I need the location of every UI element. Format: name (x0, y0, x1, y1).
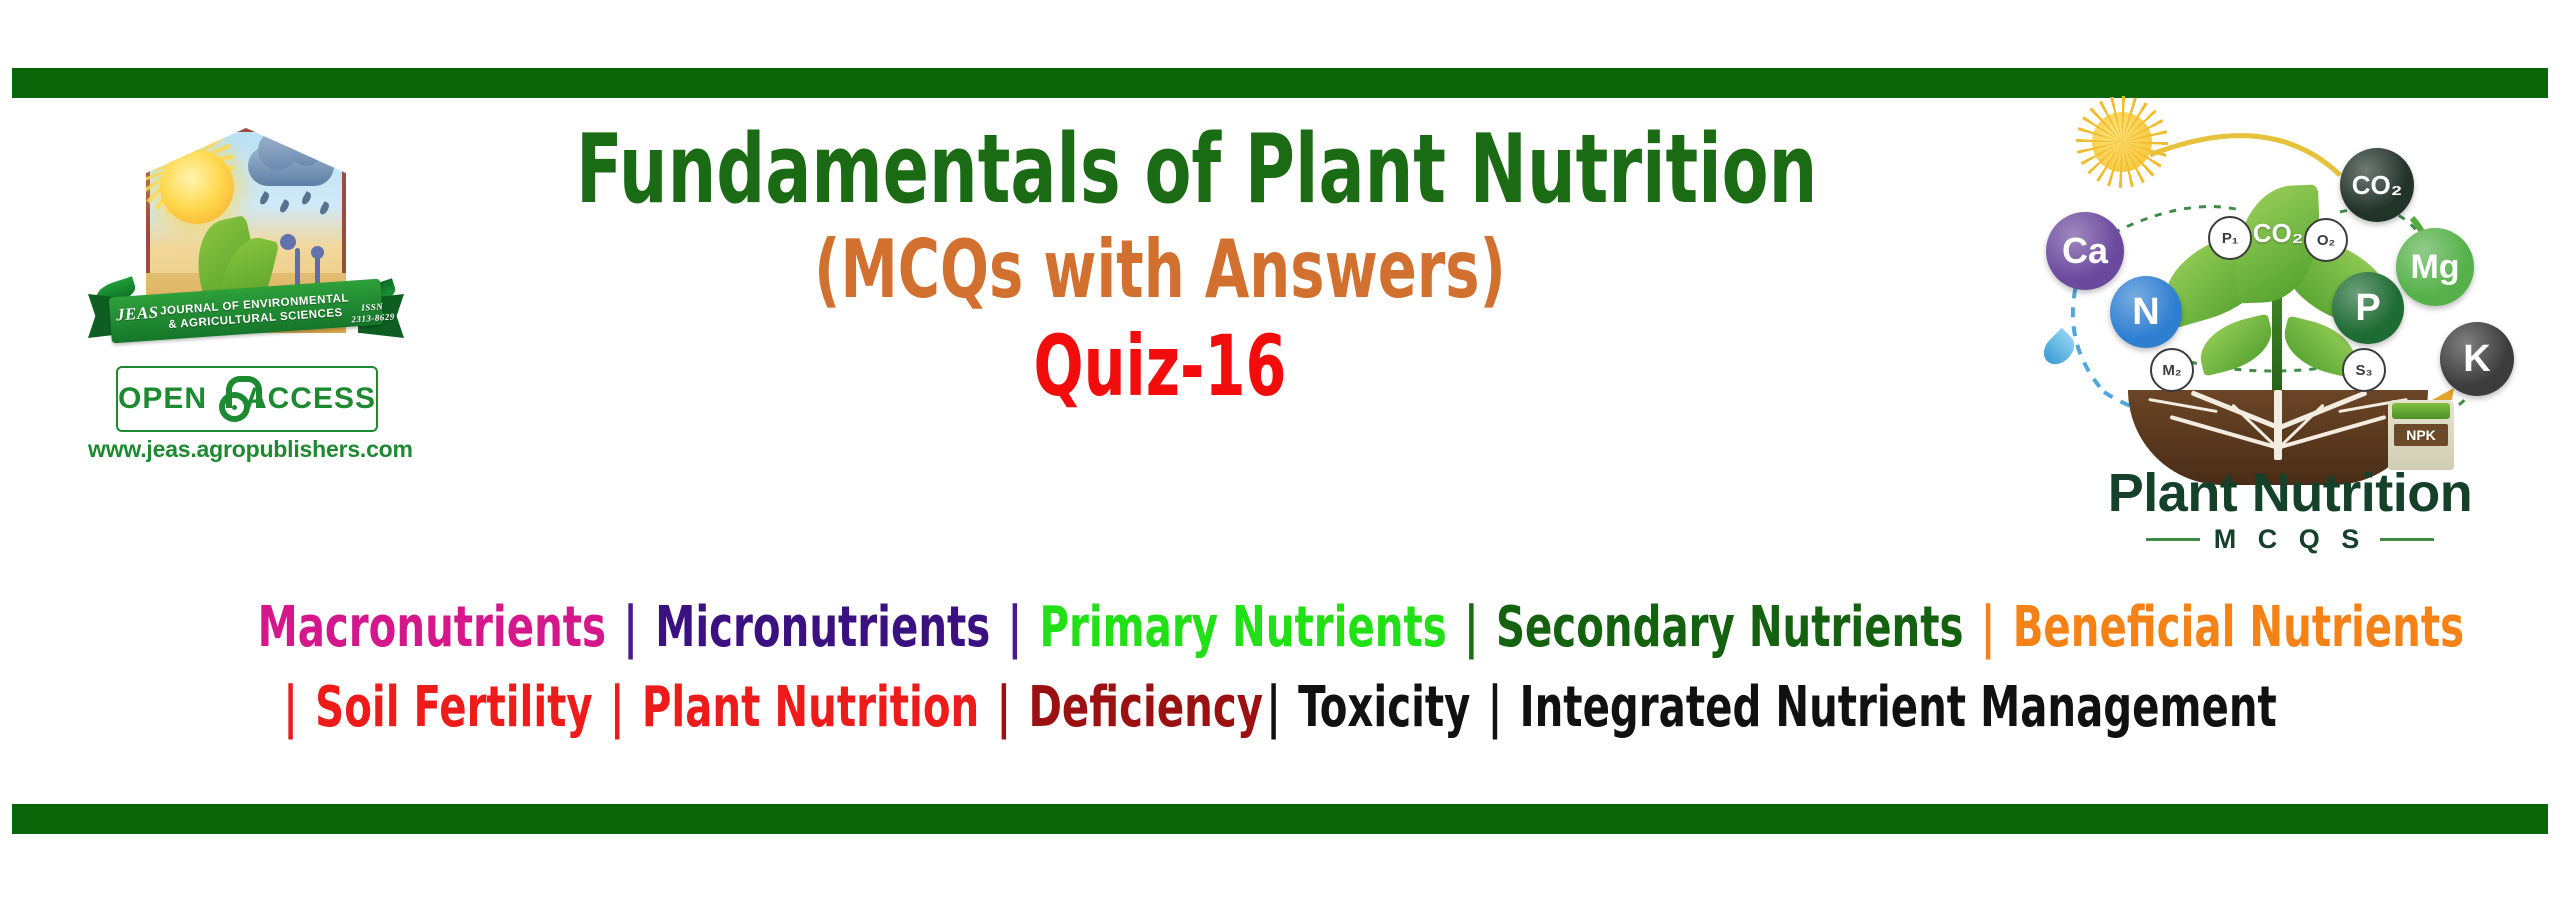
keyword-segment: | (282, 675, 314, 740)
keyword-segment: Beneficial Nutrients (2011, 595, 2466, 660)
keyword-segment: | (1265, 675, 1297, 740)
title-block: Fundamentals of Plant Nutrition (MCQs wi… (430, 118, 1890, 414)
nutrient-cycle-illustration: CO₂ NPK CaNCO₂MgPKP₁O₂M₂S₃ (2040, 100, 2540, 460)
rain-cloud-icon (248, 146, 334, 186)
water-drop-icon (2038, 328, 2080, 370)
top-green-rule (12, 68, 2548, 98)
page-subtitle: (MCQs with Answers) (576, 222, 1744, 318)
raindrop-icon (258, 191, 271, 206)
keyword-segment: | (608, 595, 654, 660)
leaf-icon (2194, 313, 2279, 376)
jeas-ribbon: JEAS JOURNAL OF ENVIRONMENTAL & AGRICULT… (88, 276, 404, 346)
keyword-segment: | (1472, 675, 1518, 740)
weed-head-icon (280, 234, 296, 250)
keyword-segment: Plant Nutrition (640, 675, 981, 740)
keyword-line-1: Macronutrients | Micronutrients | Primar… (256, 588, 2304, 668)
sun-icon (160, 150, 234, 224)
keyword-segment: Micronutrients (654, 595, 992, 660)
keyword-segment: Primary Nutrients (1038, 595, 1449, 660)
keyword-list: Macronutrients | Micronutrients | Primar… (0, 588, 2560, 748)
keyword-segment: | (1448, 595, 1494, 660)
nutrient-node-n: N (2110, 276, 2182, 348)
keyword-segment: | (992, 595, 1038, 660)
plant-nutrition-subtitle: M C Q S (2214, 524, 2367, 555)
nutrient-node-mg: Mg (2396, 228, 2474, 306)
keyword-segment: | (1965, 595, 2011, 660)
sun-icon (2092, 112, 2152, 172)
jeas-journal-logo: JEAS JOURNAL OF ENVIRONMENTAL & AGRICULT… (88, 128, 398, 518)
raindrop-icon (278, 199, 291, 214)
weed-head-icon (311, 246, 324, 259)
nutrient-node-ca: Ca (2046, 212, 2124, 290)
open-access-label-open: OPEN (118, 382, 207, 416)
dash-left (2146, 538, 2200, 541)
npk-label: NPK (2394, 424, 2448, 446)
ribbon-abbreviation: JEAS (115, 303, 159, 326)
quiz-number: Quiz-16 (591, 318, 1730, 414)
dash-right (2380, 538, 2434, 541)
nutrient-node-p: P (2332, 272, 2404, 344)
plant-nutrition-mcqs-graphic: CO₂ NPK CaNCO₂MgPKP₁O₂M₂S₃ Plant Nutriti… (2040, 100, 2540, 580)
small-nutrient-node: P₁ (2208, 216, 2252, 260)
keyword-segment: | (981, 675, 1027, 740)
plant-nutrition-title: Plant Nutrition (2040, 462, 2540, 524)
leaf-co2-label: CO₂ (2242, 218, 2314, 249)
npk-fertilizer-bag: NPK (2388, 400, 2454, 470)
nutrient-node-co2: CO₂ (2340, 148, 2414, 222)
small-nutrient-node: O₂ (2304, 218, 2348, 262)
plant-nutrition-subtitle-row: M C Q S (2040, 524, 2540, 555)
keyword-segment: Deficiency (1027, 675, 1265, 740)
journal-quiz-banner: JEAS JOURNAL OF ENVIRONMENTAL & AGRICULT… (0, 0, 2560, 914)
open-access-badge[interactable]: OPEN ACCESS (116, 366, 378, 432)
keyword-segment: Toxicity (1297, 675, 1472, 740)
keyword-line-2: | Soil Fertility | Plant Nutrition | Def… (256, 668, 2304, 748)
nutrient-node-k: K (2440, 322, 2514, 396)
keyword-segment: | (594, 675, 640, 740)
raindrop-icon (318, 201, 331, 216)
keyword-segment: Integrated Nutrient Management (1518, 675, 2278, 740)
small-nutrient-node: M₂ (2150, 348, 2194, 392)
issn-block: ISSN 2313-8629 (350, 301, 395, 326)
raindrop-icon (300, 191, 313, 206)
open-access-label-access: ACCESS (245, 382, 376, 416)
keyword-segment: Soil Fertility (314, 675, 595, 740)
page-title: Fundamentals of Plant Nutrition (576, 118, 1744, 222)
keyword-segment: Secondary Nutrients (1494, 595, 1965, 660)
journal-website-url[interactable]: www.jeas.agropublishers.com (88, 436, 398, 463)
open-lock-icon (219, 376, 233, 422)
keyword-segment: Macronutrients (256, 595, 608, 660)
small-nutrient-node: S₃ (2342, 348, 2386, 392)
bottom-green-rule (12, 804, 2548, 834)
